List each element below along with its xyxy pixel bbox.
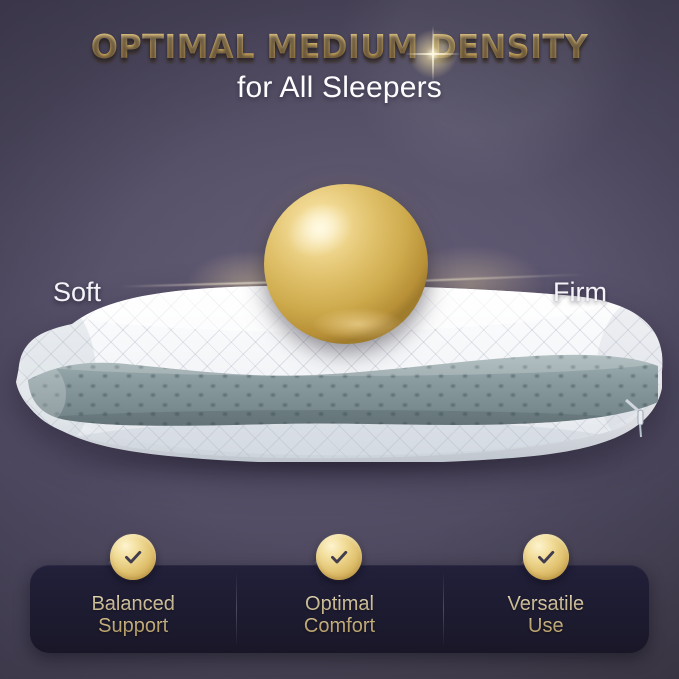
- benefits-panel: Balanced Support Optimal Comfort: [30, 565, 649, 653]
- firmness-label-firm: Firm: [553, 277, 607, 308]
- benefits-row: Balanced Support Optimal Comfort: [30, 565, 649, 653]
- benefit-label-line1: Versatile: [507, 593, 584, 615]
- check-icon: [316, 534, 362, 580]
- benefit-label-line1: Balanced: [91, 593, 174, 615]
- gold-sphere: [262, 182, 430, 346]
- benefit-label-line2: Support: [91, 615, 174, 637]
- benefit-item-balanced-support[interactable]: Balanced Support: [30, 565, 236, 653]
- benefit-label: Versatile Use: [507, 593, 584, 638]
- benefit-item-optimal-comfort[interactable]: Optimal Comfort: [236, 565, 442, 653]
- headline-secondary: for All Sleepers: [0, 71, 679, 105]
- benefit-label-line2: Comfort: [304, 615, 375, 637]
- firmness-label-soft: Soft: [53, 277, 101, 308]
- headline-primary-row: OPTIMAL MEDIUM DENSITY OPTIMAL MEDIUM DE…: [83, 30, 596, 63]
- headline-block: OPTIMAL MEDIUM DENSITY OPTIMAL MEDIUM DE…: [0, 30, 679, 105]
- check-icon: [110, 534, 156, 580]
- benefit-label-line1: Optimal: [304, 593, 375, 615]
- check-icon: [523, 534, 569, 580]
- product-infographic: OPTIMAL MEDIUM DENSITY OPTIMAL MEDIUM DE…: [0, 0, 679, 679]
- headline-primary: OPTIMAL MEDIUM DENSITY: [91, 30, 589, 63]
- benefit-label: Optimal Comfort: [304, 593, 375, 638]
- benefit-label-line2: Use: [507, 615, 584, 637]
- benefit-item-versatile-use[interactable]: Versatile Use: [443, 565, 649, 653]
- benefit-label: Balanced Support: [91, 593, 174, 638]
